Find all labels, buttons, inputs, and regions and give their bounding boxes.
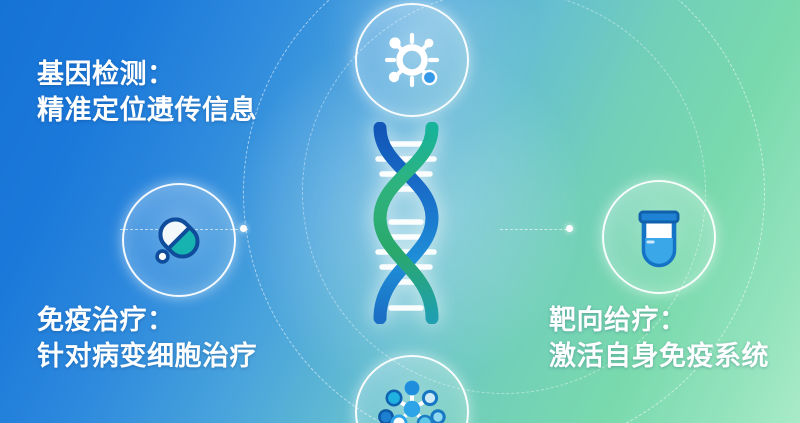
connector-line-right	[500, 229, 572, 230]
connector-dot-right	[566, 225, 573, 232]
connector-dot-left	[240, 225, 247, 232]
dna-double-helix	[358, 122, 454, 324]
infographic-scene: 基因检测： 精准定位遗传信息 免疫治疗： 针对病变细胞治疗 靶向给疗： 激活自身…	[0, 0, 800, 423]
icon-circle-capsule-pill[interactable]	[122, 183, 236, 297]
icon-circle-test-tube[interactable]	[602, 180, 716, 294]
capsule-pill-icon	[147, 208, 211, 272]
icon-circle-virus-cell[interactable]	[355, 3, 469, 117]
caption-immunotherapy: 免疫治疗： 针对病变细胞治疗	[37, 303, 257, 374]
molecule-network-icon	[373, 373, 451, 423]
icon-circle-molecule-network[interactable]	[355, 355, 469, 423]
virus-cell-icon	[379, 27, 445, 93]
caption-gene-testing: 基因检测： 精准定位遗传信息	[37, 57, 257, 128]
test-tube-icon	[629, 206, 689, 268]
caption-targeted-therapy: 靶向给疗： 激活自身免疫系统	[549, 303, 769, 374]
